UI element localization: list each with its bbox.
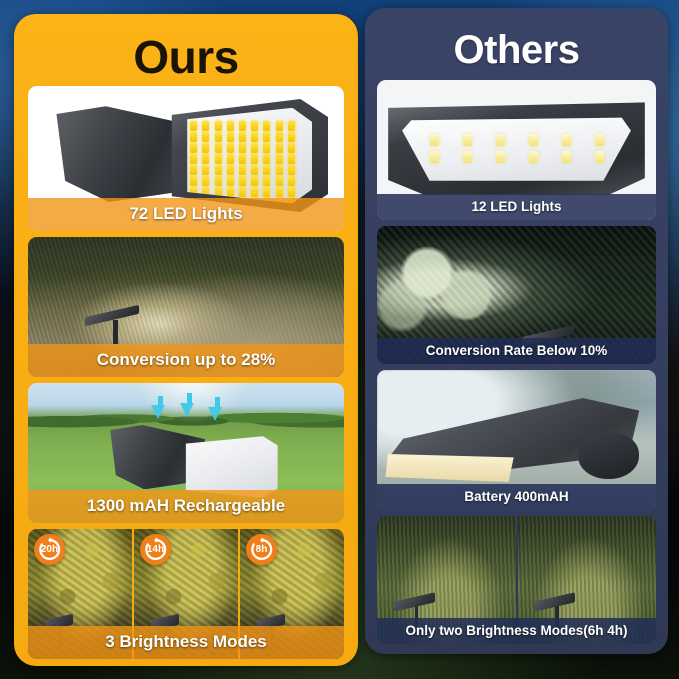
led-dot [288, 143, 295, 153]
ours-led-photo: 72 LED Lights [28, 86, 344, 231]
led-dot [227, 154, 234, 164]
led-dot [263, 143, 270, 153]
led-dot [263, 154, 270, 164]
ours-card-brightness: 20h 1 [28, 529, 344, 659]
led-dot [202, 165, 209, 175]
thumb-lamp [394, 597, 447, 616]
others-brightness-photo: Only two Brightness Modes(6h 4h) [377, 516, 656, 644]
led-dot [227, 121, 234, 131]
led-dot [190, 154, 197, 164]
others-caption-brightness: Only two Brightness Modes(6h 4h) [377, 618, 656, 644]
led-dot [276, 154, 283, 164]
runtime-badge-20h: 20h [34, 534, 65, 565]
led-dot [263, 165, 270, 175]
led-dot [227, 165, 234, 175]
led-grid [173, 436, 277, 498]
solar-led-strip [385, 454, 513, 482]
led-dot [496, 134, 505, 146]
led-dot [202, 143, 209, 153]
led-dot [239, 143, 246, 153]
led-dot [595, 134, 604, 146]
led-dot [276, 132, 283, 142]
led-dot [215, 132, 222, 142]
led-dot [239, 132, 246, 142]
lamp-led-face [170, 108, 312, 204]
led-dot [251, 132, 258, 142]
led-dot [529, 151, 538, 163]
led-dot [276, 165, 283, 175]
led-dot [227, 143, 234, 153]
ours-caption-battery: 1300 mAH Rechargeable [28, 490, 344, 523]
park-lamp-face [173, 436, 277, 498]
led-dot [288, 154, 295, 164]
sun-ray-arrow-tail [158, 396, 163, 408]
led-dot [239, 154, 246, 164]
led-dot [202, 154, 209, 164]
led-dot [430, 134, 439, 146]
ours-caption-brightness: 3 Brightness Modes [28, 626, 344, 659]
ours-panel-title: Ours [14, 14, 358, 80]
ours-panel: Ours 72 LED Lights [14, 14, 358, 666]
led-dot [190, 165, 197, 175]
led-dot [190, 143, 197, 153]
others-panel-title: Others [365, 8, 668, 70]
led-dot [202, 176, 209, 186]
runtime-badge-8h: 8h [246, 534, 277, 565]
led-dot [263, 132, 270, 142]
led-dot [529, 134, 538, 146]
led-grid [402, 116, 631, 180]
led-dot [215, 143, 222, 153]
sun-ray-arrow-tail [215, 397, 220, 409]
others-battery-photo: Battery 400mAH [377, 370, 656, 510]
led-dot [496, 151, 505, 163]
others-card-battery: Battery 400mAH [377, 370, 656, 510]
led-dot [430, 151, 439, 163]
led-dot [251, 154, 258, 164]
others-caption-conversion: Conversion Rate Below 10% [377, 338, 656, 364]
led-dot [202, 121, 209, 131]
led-dot [251, 187, 258, 197]
runtime-badge-14h: 14h [140, 534, 171, 565]
ours-card-led: 72 LED Lights [28, 86, 344, 231]
solar-mount-knob [578, 432, 639, 480]
ours-brightness-photo: 20h 1 [28, 529, 344, 659]
runtime-badge-label: 14h [147, 544, 164, 555]
led-dot [239, 187, 246, 197]
led-dot [239, 121, 246, 131]
runtime-badge-label: 8h [256, 544, 268, 555]
ours-battery-photo: 1300 mAH Rechargeable [28, 383, 344, 523]
lamp-bar-face [402, 116, 631, 180]
ours-card-battery: 1300 mAH Rechargeable [28, 383, 344, 523]
led-dot [263, 187, 270, 197]
led-dot [227, 132, 234, 142]
others-card-brightness: Only two Brightness Modes(6h 4h) [377, 516, 656, 644]
thumb-lamp [534, 597, 587, 616]
ours-caption-conversion: Conversion up to 28% [28, 344, 344, 377]
others-caption-led: 12 LED Lights [377, 194, 656, 220]
led-dot [251, 176, 258, 186]
led-dot [239, 165, 246, 175]
led-dot [251, 121, 258, 131]
led-dot [276, 187, 283, 197]
led-dot [227, 187, 234, 197]
led-dot [251, 143, 258, 153]
led-dot [239, 176, 246, 186]
led-dot [263, 176, 270, 186]
led-dot [288, 165, 295, 175]
comparison-panels: Ours 72 LED Lights [0, 0, 679, 679]
led-dot [595, 151, 604, 163]
led-dot [562, 134, 571, 146]
others-caption-battery: Battery 400mAH [377, 484, 656, 510]
led-dot [288, 121, 295, 131]
led-dot [288, 132, 295, 142]
led-dot [288, 176, 295, 186]
led-dot [276, 121, 283, 131]
others-led-photo: 12 LED Lights [377, 80, 656, 220]
ours-conversion-photo: Conversion up to 28% [28, 237, 344, 377]
led-dot [288, 187, 295, 197]
others-panel: Others 12 LED Lights Co [365, 8, 668, 654]
path-lamp [85, 311, 155, 329]
others-card-led: 12 LED Lights [377, 80, 656, 220]
sun-ray-arrow-tail [187, 393, 192, 405]
led-dot [463, 134, 472, 146]
led-grid [170, 108, 312, 204]
led-dot [215, 176, 222, 186]
led-dot [190, 132, 197, 142]
ours-caption-led: 72 LED Lights [28, 198, 344, 231]
led-dot [227, 176, 234, 186]
ours-card-conversion: Conversion up to 28% [28, 237, 344, 377]
led-dot [463, 151, 472, 163]
led-dot [263, 121, 270, 131]
others-card-conversion: Conversion Rate Below 10% [377, 226, 656, 364]
led-dot [251, 165, 258, 175]
led-dot [276, 143, 283, 153]
led-dot [276, 176, 283, 186]
led-dot [215, 154, 222, 164]
led-dot [190, 121, 197, 131]
led-dot [562, 151, 571, 163]
led-dot [215, 165, 222, 175]
led-dot [190, 176, 197, 186]
led-dot [202, 132, 209, 142]
lamp-post [113, 320, 118, 344]
led-dot [215, 121, 222, 131]
others-conversion-photo: Conversion Rate Below 10% [377, 226, 656, 364]
runtime-badge-label: 20h [41, 544, 58, 555]
